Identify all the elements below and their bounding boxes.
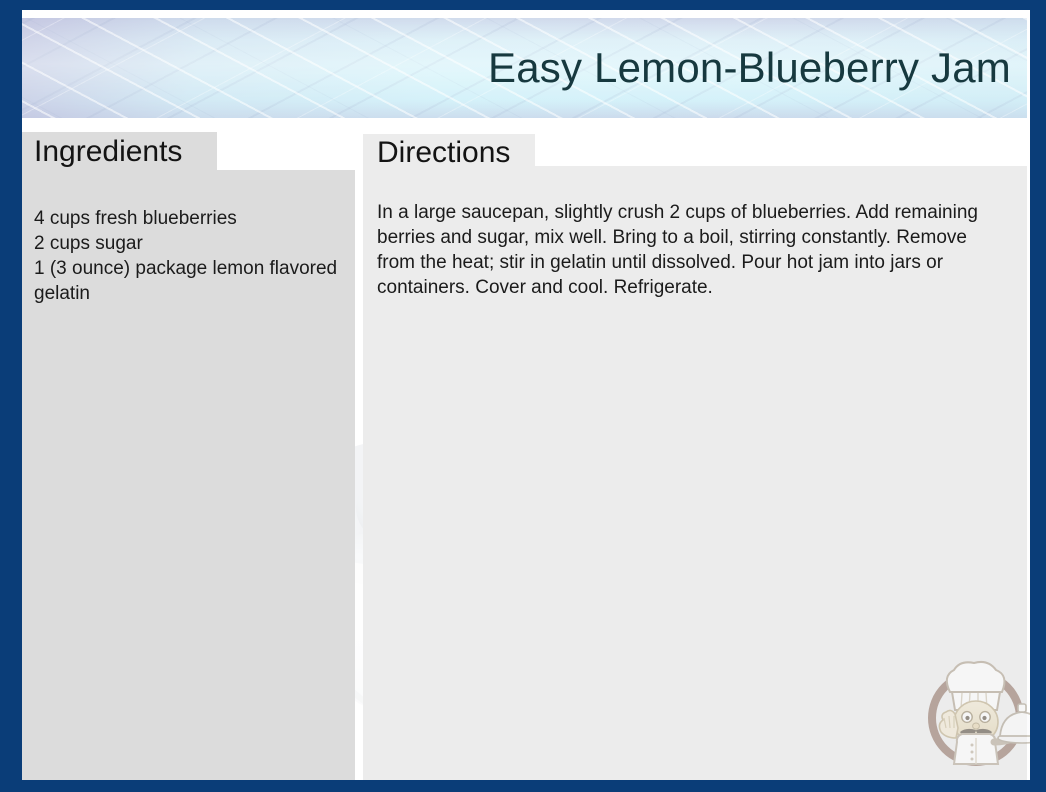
- chef-mascot-logo-icon: [910, 646, 1030, 778]
- page-title: Easy Lemon-Blueberry Jam: [488, 44, 1011, 92]
- chef-waving-hand: [939, 710, 958, 738]
- serving-cloche: [994, 704, 1030, 743]
- recipe-card: Easy Lemon-Blueberry Jam: [0, 0, 1046, 792]
- ingredients-panel: 4 cups fresh blueberries 2 cups sugar 1 …: [22, 170, 355, 780]
- ingredients-heading-label: Ingredients: [34, 137, 182, 167]
- directions-heading-tab: Directions: [363, 134, 535, 172]
- ingredients-list: 4 cups fresh blueberries 2 cups sugar 1 …: [34, 206, 344, 306]
- directions-text: In a large saucepan, slightly crush 2 cu…: [377, 200, 1009, 300]
- title-banner: Easy Lemon-Blueberry Jam: [22, 18, 1027, 118]
- chef-coat: [954, 734, 998, 764]
- card-page: Easy Lemon-Blueberry Jam: [22, 10, 1030, 780]
- ingredients-heading-tab: Ingredients: [22, 132, 217, 172]
- directions-heading-label: Directions: [377, 138, 510, 168]
